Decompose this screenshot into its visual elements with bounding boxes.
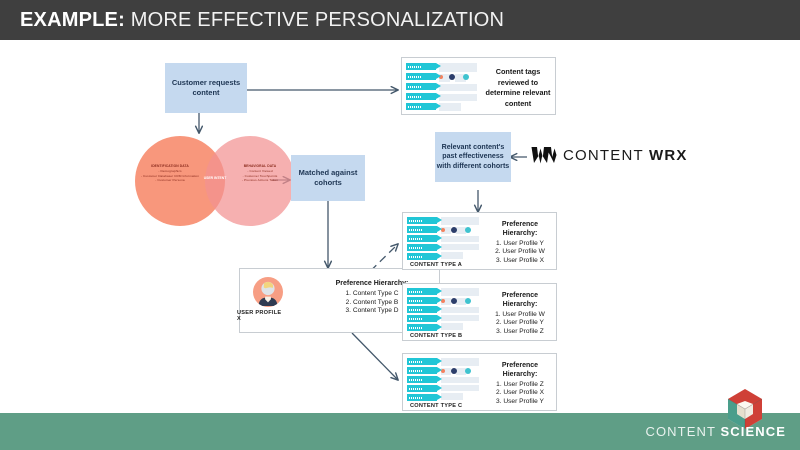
content-tag	[406, 73, 436, 80]
content-tag	[407, 253, 437, 260]
tag-bars	[408, 66, 421, 68]
content-tag	[407, 297, 437, 304]
content-type-c-thumbnail	[407, 357, 481, 402]
preference-item: 2. User Profile Y	[485, 319, 555, 328]
content-tag	[407, 367, 437, 374]
user-profile-label: USER PROFILE X	[237, 310, 283, 322]
panel-content-type-a[interactable]: CONTENT TYPE A Preference Hierarchy: 1. …	[402, 212, 557, 270]
tag-bars	[409, 361, 422, 363]
venn-label-identification: IDENTIFICATION DATA - Demographics - Cus…	[137, 164, 203, 183]
venn-item: - Previous Actions Taken	[227, 178, 293, 183]
content-tag	[407, 394, 437, 401]
thumb-strip	[441, 377, 479, 383]
tag-bars	[409, 327, 422, 329]
content-wrx-logo: CONTENT WRX	[531, 146, 688, 164]
footer-wordmark: CONTENT SCIENCE	[645, 424, 786, 439]
content-type-a-thumbnail	[407, 216, 481, 261]
tag-bars	[408, 96, 421, 98]
content-tag	[407, 217, 437, 224]
thumb-placeholder	[441, 323, 463, 330]
content-tag	[406, 103, 436, 110]
page-header: EXAMPLE: MORE EFFECTIVE PERSONALIZATION	[0, 0, 800, 40]
preference-item: 3. User Profile X	[485, 257, 555, 266]
preference-hierarchy-heading-line2: Hierarchy:	[485, 301, 555, 310]
preference-list: 1. User Profile W 2. User Profile Y 3. U…	[485, 311, 555, 337]
content-tag	[407, 306, 437, 313]
panel-content-type-b[interactable]: CONTENT TYPE B Preference Hierarchy: 1. …	[402, 283, 557, 341]
content-tag	[407, 324, 437, 331]
thumb-strip	[439, 63, 477, 72]
content-tag	[407, 244, 437, 251]
thumb-dot-teal	[465, 298, 471, 304]
content-type-b-thumbnail	[407, 287, 481, 332]
preference-item: 1. User Profile Y	[485, 240, 555, 249]
wrx-mark-icon	[531, 146, 557, 164]
thumb-strip	[441, 385, 479, 391]
content-type-a-label: CONTENT TYPE A	[410, 262, 462, 268]
thumb-strip	[439, 94, 477, 101]
box-customer-requests-content[interactable]: Customer requests content	[165, 63, 247, 113]
preference-item: 1. User Profile Z	[485, 381, 555, 390]
footer-word-content: CONTENT	[645, 424, 715, 439]
thumb-strip	[441, 236, 479, 242]
content-tag	[407, 235, 437, 242]
content-tags-caption: Content tags reviewed to determine relev…	[482, 67, 554, 109]
tag-bars	[409, 318, 422, 320]
tag-bars	[409, 220, 422, 222]
content-tag	[406, 93, 436, 100]
panel-content-type-c[interactable]: CONTENT TYPE C Preference Hierarchy: 1. …	[402, 353, 557, 411]
preference-hierarchy-heading-line1: Preference	[485, 362, 555, 371]
preference-item: 3. User Profile Z	[485, 328, 555, 337]
arrow-profile-to-typec	[352, 333, 398, 380]
thumb-placeholder	[441, 393, 463, 400]
thumb-dot-teal	[465, 227, 471, 233]
preference-list: 1. User Profile Y 2. User Profile W 3. U…	[485, 240, 555, 266]
preference-hierarchy-heading-line2: Hierarchy:	[485, 230, 555, 239]
tag-bars	[409, 229, 422, 231]
box-matched-against-cohorts[interactable]: Matched against cohorts	[291, 155, 365, 201]
box-relevant-content-effectiveness[interactable]: Relevant content's past effectiveness wi…	[435, 132, 511, 182]
tag-bars	[408, 76, 421, 78]
content-tag	[407, 358, 437, 365]
page-footer: CONTENT SCIENCE	[0, 413, 800, 450]
preference-hierarchy-heading-line2: Hierarchy:	[485, 371, 555, 380]
thumb-strip	[441, 217, 479, 225]
content-tags-thumbnail	[405, 61, 479, 113]
venn-diagram: IDENTIFICATION DATA - Demographics - Cus…	[135, 136, 295, 226]
tag-bars	[409, 388, 422, 390]
tag-bars	[409, 256, 422, 258]
tag-bars	[409, 291, 422, 293]
thumb-dot-teal	[463, 74, 469, 80]
diagram-canvas: Customer requests content IDENTIFICATION…	[0, 40, 800, 413]
preference-hierarchy-heading-line1: Preference	[485, 292, 555, 301]
content-type-c-preference-hierarchy: Preference Hierarchy: 1. User Profile Z …	[485, 362, 555, 407]
preference-item: 2. User Profile W	[485, 248, 555, 257]
tag-bars	[409, 309, 422, 311]
wrx-word-content: CONTENT	[563, 147, 644, 164]
preference-item: 3. User Profile Y	[485, 398, 555, 407]
content-tag	[407, 385, 437, 392]
thumb-dot-navy	[449, 74, 455, 80]
thumb-dot-navy	[451, 368, 457, 374]
content-type-a-preference-hierarchy: Preference Hierarchy: 1. User Profile Y …	[485, 221, 555, 266]
thumb-strip	[441, 288, 479, 296]
thumb-placeholder	[439, 103, 461, 111]
panel-content-tags[interactable]: Content tags reviewed to determine relev…	[401, 57, 556, 115]
footer-word-science: SCIENCE	[721, 424, 787, 439]
tag-bars	[409, 379, 422, 381]
connector-arrows	[0, 40, 800, 413]
tag-bars	[409, 238, 422, 240]
thumb-strip	[441, 358, 479, 366]
thumb-strip	[441, 244, 479, 250]
preference-hierarchy-heading-line1: Preference	[485, 221, 555, 230]
thumb-placeholder	[441, 252, 463, 259]
venn-item: - Customer Persona	[137, 178, 203, 183]
thumb-dot-navy	[451, 298, 457, 304]
person-icon	[253, 277, 283, 307]
content-tag	[406, 63, 436, 70]
content-type-c-label: CONTENT TYPE C	[410, 403, 462, 409]
tag-bars	[408, 106, 421, 108]
preference-list: 1. User Profile Z 2. User Profile X 3. U…	[485, 381, 555, 407]
tag-bars	[409, 370, 422, 372]
content-tag	[407, 376, 437, 383]
user-avatar: USER PROFILE X	[253, 277, 283, 307]
content-tag	[407, 226, 437, 233]
content-type-b-label: CONTENT TYPE B	[410, 333, 462, 339]
thumb-dot-navy	[451, 227, 457, 233]
page-title: EXAMPLE: MORE EFFECTIVE PERSONALIZATION	[20, 9, 504, 32]
tag-bars	[408, 86, 421, 88]
thumb-strip	[439, 84, 477, 91]
thumb-strip	[441, 315, 479, 321]
tag-bars	[409, 247, 422, 249]
thumb-strip	[441, 307, 479, 313]
wrx-word-wrx: WRX	[649, 147, 688, 164]
page-title-rest: MORE EFFECTIVE PERSONALIZATION	[131, 9, 504, 31]
content-tag	[407, 315, 437, 322]
avatar-circle	[253, 277, 283, 307]
page-title-emphasis: EXAMPLE:	[20, 9, 125, 31]
preference-item: 2. User Profile X	[485, 389, 555, 398]
tag-bars	[409, 397, 422, 399]
wrx-wordmark: CONTENT WRX	[563, 147, 688, 164]
content-type-b-preference-hierarchy: Preference Hierarchy: 1. User Profile W …	[485, 292, 555, 337]
content-tag	[407, 288, 437, 295]
venn-label-behavioral: BEHAVIORAL DATA - Content Viewed - Custo…	[227, 164, 293, 183]
tag-bars	[409, 300, 422, 302]
thumb-dot-teal	[465, 368, 471, 374]
content-tag	[406, 83, 436, 90]
preference-item: 1. User Profile W	[485, 311, 555, 320]
venn-label-user-intent: USER INTENT	[203, 176, 227, 181]
